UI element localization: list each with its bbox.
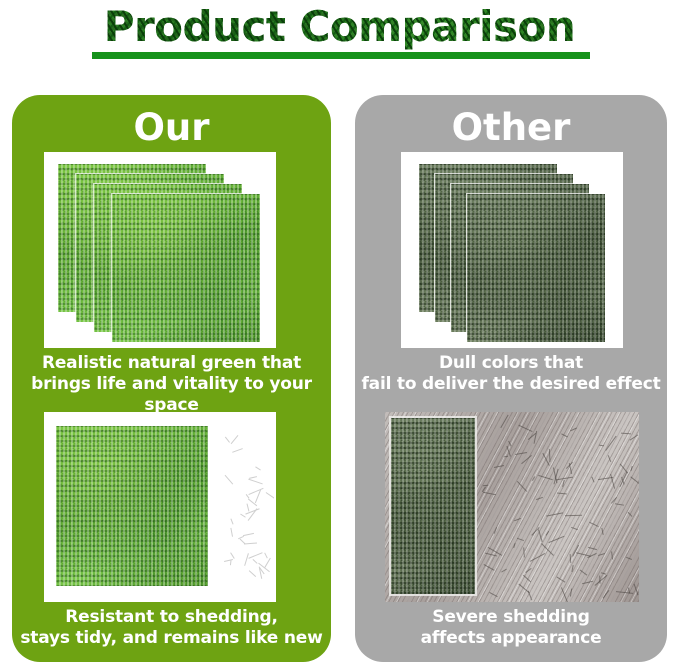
loose-fiber xyxy=(249,570,256,577)
shed-fiber xyxy=(538,529,543,541)
loose-fiber xyxy=(266,492,274,499)
shed-fiber xyxy=(616,591,633,594)
shed-fiber xyxy=(513,543,515,548)
shed-fiber xyxy=(514,518,521,522)
shed-fiber xyxy=(590,522,600,527)
grass-mat-intact xyxy=(56,426,208,586)
loose-fiber xyxy=(246,503,249,511)
shed-fiber xyxy=(565,515,582,517)
shed-fiber xyxy=(602,528,604,535)
loose-fiber xyxy=(230,519,233,525)
panel-our: Our Realistic natural green that brings … xyxy=(12,95,331,662)
shed-fiber xyxy=(516,481,526,492)
shed-fiber xyxy=(630,476,639,486)
shed-fiber xyxy=(598,553,605,556)
shed-fiber xyxy=(627,557,633,560)
shed-fiber xyxy=(611,551,613,559)
shed-fiber xyxy=(594,575,607,586)
other-top-caption-line-2: fail to deliver the desired effect xyxy=(355,374,667,395)
shed-fiber xyxy=(557,493,567,495)
our-bottom-caption-line-1: Resistant to shedding, xyxy=(12,607,331,628)
shed-fiber xyxy=(580,569,588,575)
shed-fiber xyxy=(582,581,593,584)
shed-fiber xyxy=(546,531,549,535)
shed-fiber xyxy=(494,465,504,468)
shed-fiber xyxy=(523,575,531,582)
loose-fiber xyxy=(243,533,254,536)
shed-fiber xyxy=(537,497,544,500)
shed-fiber xyxy=(571,527,578,530)
loose-fiber xyxy=(248,478,262,484)
loose-fiber xyxy=(253,558,258,563)
loose-fiber xyxy=(230,560,232,566)
loose-fiber xyxy=(255,467,261,471)
other-bottom-caption: Severe shedding affects appearance xyxy=(355,607,667,649)
loose-fiber xyxy=(225,437,230,443)
loose-fiber xyxy=(225,475,233,484)
other-bottom-caption-line-1: Severe shedding xyxy=(355,607,667,628)
shed-fiber xyxy=(588,546,597,549)
shed-fiber xyxy=(485,553,496,557)
shed-fiber xyxy=(546,512,563,516)
shed-fiber xyxy=(562,480,565,487)
page-title: Product Comparison xyxy=(0,2,679,52)
shed-fiber xyxy=(525,568,531,573)
other-bottom-caption-line-2: affects appearance xyxy=(355,628,667,649)
other-bottom-photo-frame xyxy=(385,412,639,602)
shed-fiber xyxy=(607,455,610,462)
our-top-caption: Realistic natural green that brings life… xyxy=(12,353,331,416)
our-top-caption-line-2: brings life and vitality to your space xyxy=(12,374,331,416)
our-bottom-caption: Resistant to shedding, stays tidy, and r… xyxy=(12,607,331,649)
shed-fiber xyxy=(500,415,508,428)
loose-fiber xyxy=(233,448,243,453)
shed-fiber xyxy=(490,592,498,597)
loose-fiber xyxy=(230,552,234,558)
our-top-caption-line-1: Realistic natural green that xyxy=(12,353,331,374)
loose-fiber xyxy=(255,490,261,503)
shed-fiber xyxy=(483,492,496,496)
shed-fiber xyxy=(591,476,594,482)
shed-fiber xyxy=(557,576,566,582)
shed-fiber xyxy=(538,475,552,480)
shed-fiber xyxy=(599,444,604,446)
our-top-photo-frame xyxy=(44,152,276,348)
panel-other-heading: Other xyxy=(355,105,667,151)
loose-fiber xyxy=(230,435,238,444)
panel-other: Other Dull colors that fail to deliver t… xyxy=(355,95,667,662)
title-area: Product Comparison xyxy=(0,0,679,88)
loose-fiber xyxy=(240,513,245,517)
shed-fiber xyxy=(571,428,578,432)
dull-turf-slab xyxy=(391,418,475,594)
shed-fiber xyxy=(484,565,495,572)
grass-tile-4 xyxy=(112,194,260,342)
shed-fiber xyxy=(561,588,569,602)
other-top-caption-line-1: Dull colors that xyxy=(355,353,667,374)
loose-fiber xyxy=(244,542,257,544)
loose-fiber xyxy=(248,488,263,495)
shed-fiber xyxy=(602,590,609,598)
shed-fiber xyxy=(532,476,535,481)
other-top-photo-frame xyxy=(401,152,623,348)
shed-fiber xyxy=(523,547,525,557)
shed-fiber xyxy=(561,434,568,438)
loose-fiber xyxy=(248,552,262,559)
shed-fiber xyxy=(627,512,632,517)
shed-fiber xyxy=(548,536,564,543)
our-bottom-photo-frame xyxy=(44,412,276,602)
loose-fiber-zone xyxy=(222,432,274,582)
shed-fiber xyxy=(530,553,545,562)
our-bottom-caption-line-2: stays tidy, and remains like new xyxy=(12,628,331,649)
loose-fiber xyxy=(231,528,234,537)
shed-fiber xyxy=(549,449,551,462)
shed-fiber xyxy=(621,433,631,435)
shed-fiber xyxy=(501,568,507,572)
panel-our-heading: Our xyxy=(12,105,331,151)
shed-fiber xyxy=(620,464,628,474)
shed-fiber xyxy=(569,464,572,475)
shed-fiber xyxy=(493,527,496,534)
shed-fiber xyxy=(605,436,616,451)
shed-fiber xyxy=(518,583,530,593)
shed-fiber xyxy=(615,503,624,505)
shed-fiber xyxy=(517,538,524,541)
shed-fiber xyxy=(508,441,511,446)
shed-fiber xyxy=(572,544,579,556)
shed-fiber xyxy=(519,425,533,432)
shed-fiber xyxy=(572,565,574,572)
shed-fiber xyxy=(631,466,633,471)
shed-fiber xyxy=(515,452,527,455)
title-underline-rule xyxy=(92,52,590,59)
shed-fiber xyxy=(483,484,488,486)
shed-fiber xyxy=(633,584,638,596)
loose-fiber xyxy=(264,557,271,567)
shed-fiber xyxy=(570,588,572,596)
shed-fiber xyxy=(504,456,508,458)
loose-fiber xyxy=(264,553,268,559)
shed-fiber xyxy=(569,554,571,563)
loose-fiber xyxy=(244,553,249,566)
shed-fiber xyxy=(629,435,638,441)
dull-grass-tile-4 xyxy=(467,194,605,342)
other-top-caption: Dull colors that fail to deliver the des… xyxy=(355,353,667,395)
shed-fiber xyxy=(521,454,532,463)
